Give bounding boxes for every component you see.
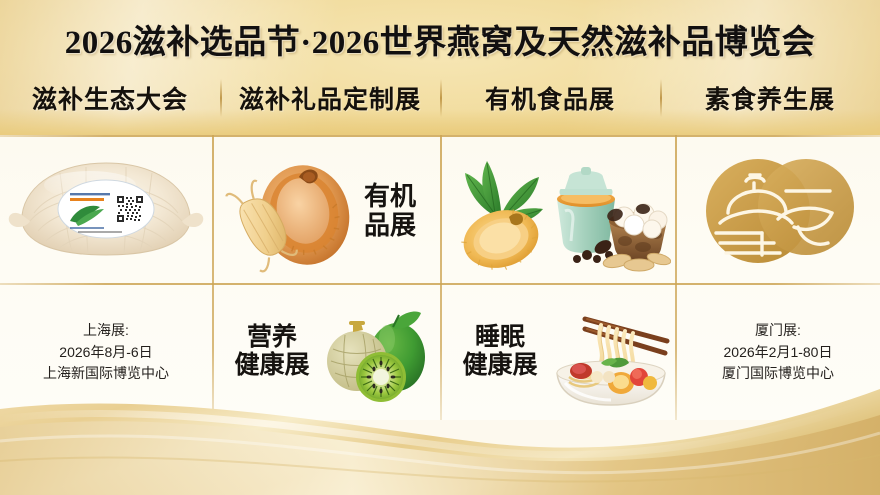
subnav-item-organic-food[interactable]: 有机食品展 (440, 72, 660, 124)
label-line-1: 睡眠 (475, 323, 525, 351)
subnav-item-label: 滋补礼品定制展 (239, 80, 421, 116)
subnav-item-label: 有机食品展 (485, 80, 615, 116)
organic-products-label: 有机 品展 (343, 165, 437, 257)
gold-silk-wave-decoration (0, 375, 880, 495)
banner-header: 2026滋补选品节·2026世界燕窝及天然滋补品博览会 滋补生态大会 滋补礼品定… (0, 0, 880, 135)
ginseng-and-abalone-image (225, 153, 355, 273)
gold-circular-emblem-image (690, 149, 866, 273)
label-line-1: 有机 (364, 182, 416, 211)
subnav-item-ecology-conference[interactable]: 滋补生态大会 (0, 72, 220, 124)
shanghai-label: 上海展: (83, 320, 129, 342)
subnav-item-vegetarian-wellness[interactable]: 素食养生展 (660, 72, 880, 124)
subnav: 滋补生态大会 滋补礼品定制展 有机食品展 素食养生展 (0, 72, 880, 124)
birds-nest-with-qr-label-image (0, 137, 212, 283)
xiamen-label: 厦门展: (755, 320, 801, 342)
subnav-item-label: 滋补生态大会 (32, 80, 188, 116)
cell-organic-products: 有机 品展 (213, 137, 440, 283)
subnav-item-gift-customization[interactable]: 滋补礼品定制展 (220, 72, 440, 124)
teacup-and-tangyuan-bowl-image (539, 155, 671, 273)
exhibition-banner: 2026滋补选品节·2026世界燕窝及天然滋补品博览会 滋补生态大会 滋补礼品定… (0, 0, 880, 495)
label-line-2: 品展 (364, 211, 416, 240)
page-title: 2026滋补选品节·2026世界燕窝及天然滋补品博览会 (0, 14, 880, 64)
label-line-1: 营养 (247, 323, 297, 351)
cell-gold-emblem (676, 137, 880, 283)
cell-birds-nest (0, 137, 212, 283)
xiamen-date: 2026年2月1-80日 (724, 342, 833, 364)
shanghai-date: 2026年8月-6日 (59, 342, 152, 364)
cell-health-foods (441, 137, 675, 283)
subnav-item-label: 素食养生展 (705, 80, 835, 116)
